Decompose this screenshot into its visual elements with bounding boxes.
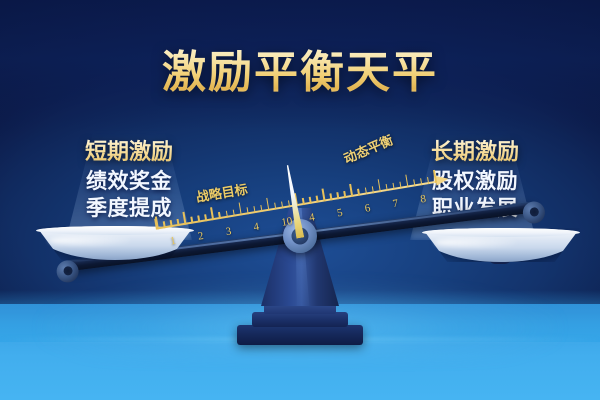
ruler-tick-minor — [413, 179, 416, 186]
ruler-tick-minor — [371, 186, 374, 193]
ruler-tick-minor — [163, 221, 166, 228]
ruler-tick-minor — [420, 178, 423, 185]
ruler-tick-minor — [218, 212, 221, 219]
ruler-tick-minor — [316, 196, 319, 203]
ruler-tick-minor — [204, 214, 207, 221]
ruler-tick-minor — [302, 198, 305, 205]
ruler-tick-minor — [225, 211, 228, 218]
ruler-arrow-icon — [435, 174, 449, 186]
ruler-tick-minor — [330, 193, 333, 200]
poster-canvas: 激励平衡天平 短期激励 绩效奖金 季度提成 长期激励 股权激励 职业发展 — [0, 0, 600, 400]
balance-scale: 12341045678 — [0, 0, 600, 400]
ruler-tick-minor — [309, 197, 312, 204]
ruler-number: 7 — [392, 197, 399, 210]
ruler-number: 3 — [225, 225, 232, 238]
ruler-tick-minor — [364, 187, 367, 194]
ruler-number: 5 — [336, 207, 343, 220]
ruler-number: 1 — [169, 235, 176, 248]
ruler-number: 8 — [420, 193, 427, 206]
ruler-tick-minor — [344, 191, 347, 198]
ruler-tick-minor — [198, 215, 201, 222]
ruler-number: 2 — [197, 230, 204, 243]
ruler-tick-minor — [246, 207, 249, 214]
left-pan-shine — [49, 236, 131, 245]
ruler-tick-minor — [177, 219, 180, 226]
ruler-number: 4 — [253, 221, 260, 234]
ruler-tick-minor — [281, 201, 284, 208]
right-pan-rim — [422, 228, 580, 237]
ruler-number: 4 — [308, 211, 315, 224]
ruler-tick-minor — [399, 182, 402, 189]
scale-base-middle — [252, 312, 348, 327]
scale-base-lower — [237, 325, 363, 345]
right-pan — [422, 228, 580, 262]
ruler-tick-minor — [427, 177, 430, 184]
ruler-tick-minor — [288, 200, 291, 207]
ruler-tick-minor — [191, 217, 194, 224]
ruler-tick-minor — [385, 184, 388, 191]
ruler-tick-minor — [232, 210, 235, 217]
left-pan-rim — [36, 226, 194, 235]
ruler-number: 10 — [280, 215, 293, 229]
ruler-tick-minor — [170, 220, 173, 227]
ruler-number: 6 — [364, 202, 371, 215]
right-pan-shine — [435, 238, 517, 247]
ruler-tick-minor — [274, 203, 277, 210]
ruler-tick-minor — [253, 206, 256, 213]
ruler-tick-minor — [392, 183, 395, 190]
ruler-tick-minor — [357, 189, 360, 196]
ruler-tick-minor — [260, 205, 263, 212]
ruler-tick-minor — [337, 192, 340, 199]
